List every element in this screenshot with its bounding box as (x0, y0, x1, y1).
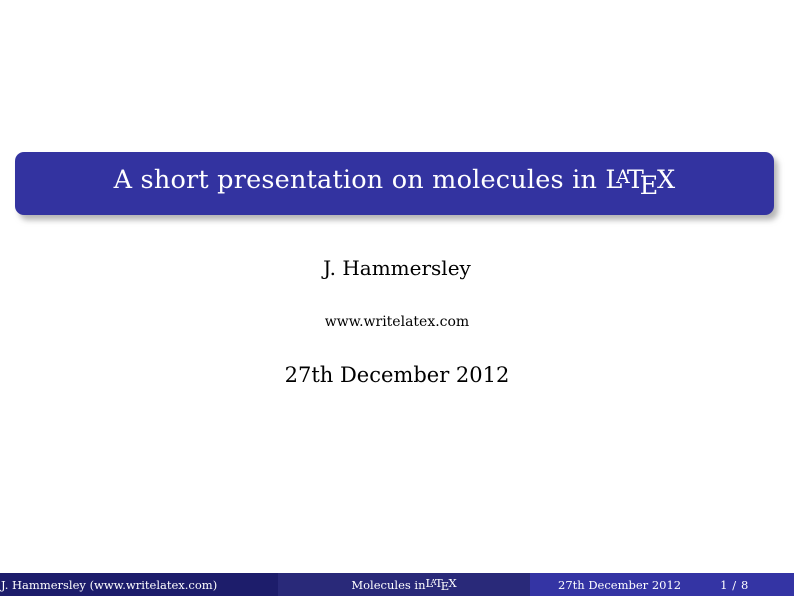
presentation-slide: A short presentation on molecules in LAT… (0, 0, 794, 596)
footer-author: J. Hammersley (www.writelatex.com) (0, 573, 278, 596)
latex-logo-e: E (640, 174, 659, 200)
footer-title-prefix: Molecules in (351, 578, 425, 592)
author-name: J. Hammersley (0, 258, 794, 278)
presentation-date: 27th December 2012 (0, 329, 794, 386)
footer-latex-logo: LATEX (426, 576, 457, 593)
latex-logo-x: X (657, 165, 675, 195)
title-block: A short presentation on molecules in LAT… (15, 152, 774, 215)
footer-latex-logo-x: X (448, 576, 456, 590)
page-title: A short presentation on molecules in LAT… (114, 168, 676, 199)
footer-date-page: 27th December 20121 / 8 (530, 573, 794, 596)
footer-title: Molecules in LATEX (278, 573, 530, 596)
footer-bar: J. Hammersley (www.writelatex.com) Molec… (0, 573, 794, 596)
footer-page-indicator: 1 / 8 (681, 578, 749, 592)
institute-url: www.writelatex.com (0, 278, 794, 329)
title-text-prefix: A short presentation on molecules in (114, 165, 606, 195)
footer-date: 27th December 2012 (558, 578, 681, 592)
latex-logo: LATEX (605, 168, 675, 199)
title-meta-block: J. Hammersley www.writelatex.com 27th De… (0, 258, 794, 386)
